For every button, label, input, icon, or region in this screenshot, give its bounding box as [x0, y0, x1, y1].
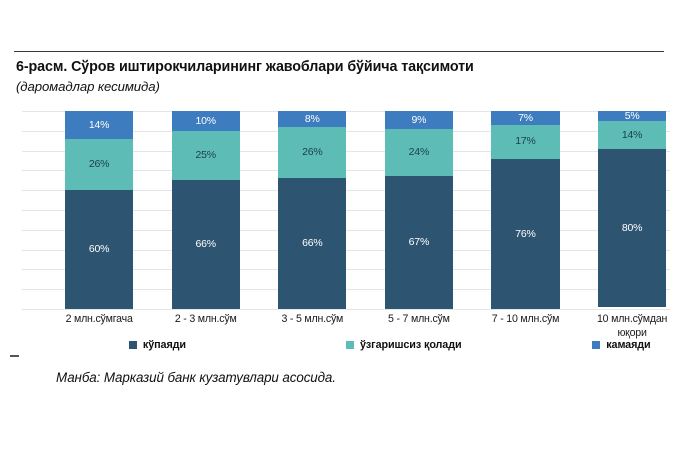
- bar-segment-decrease[interactable]: 10%: [172, 111, 240, 131]
- x-axis-label: 7 - 10 млн.сўм: [471, 313, 579, 327]
- bar-segment-value-label: 26%: [89, 159, 109, 170]
- bar-segment-increase[interactable]: 76%: [491, 159, 559, 309]
- stacked-bar[interactable]: 7%17%76%: [491, 111, 559, 309]
- legend-label: ўзгаришсиз қолади: [360, 339, 462, 351]
- x-axis-label-line: 7 - 10 млн.сўм: [471, 313, 579, 327]
- bar-segment-decrease[interactable]: 14%: [65, 111, 133, 139]
- bar-segment-value-label: 5%: [625, 111, 640, 122]
- legend-swatch-decrease: [592, 341, 600, 349]
- bar-segment-same[interactable]: 14%: [598, 121, 666, 149]
- bar-segment-value-label: 25%: [195, 150, 215, 161]
- bar-segment-value-label: 76%: [515, 229, 535, 240]
- legend-swatch-increase: [129, 341, 137, 349]
- bar-segment-value-label: 8%: [305, 114, 320, 125]
- bar-segment-increase[interactable]: 66%: [278, 178, 346, 309]
- bar-segment-value-label: 7%: [518, 113, 533, 124]
- bar-segment-value-label: 24%: [409, 147, 429, 158]
- bar-group[interactable]: 10%25%66%: [172, 111, 240, 309]
- legend-label: кўпаяди: [143, 339, 186, 351]
- bar-segment-value-label: 26%: [302, 147, 322, 158]
- stacked-bar[interactable]: 14%26%60%: [65, 111, 133, 309]
- bar-segment-decrease[interactable]: 7%: [491, 111, 559, 125]
- x-axis-label: 3 - 5 млн.сўм: [258, 313, 366, 327]
- x-axis-label: 5 - 7 млн.сўм: [365, 313, 473, 327]
- bar-segment-same[interactable]: 17%: [491, 125, 559, 159]
- bar-segment-value-label: 66%: [195, 239, 215, 250]
- bar-segment-increase[interactable]: 66%: [172, 180, 240, 309]
- left-tick-dash-icon: [10, 355, 19, 357]
- bar-group[interactable]: 7%17%76%: [491, 111, 559, 309]
- bar-segment-value-label: 67%: [409, 237, 429, 248]
- bar-segment-value-label: 10%: [195, 116, 215, 127]
- stacked-bar[interactable]: 5%14%80%: [598, 111, 666, 309]
- x-axis-label-line: юқори: [578, 327, 680, 341]
- bar-segment-increase[interactable]: 80%: [598, 149, 666, 307]
- stacked-bar[interactable]: 9%24%67%: [385, 111, 453, 309]
- bar-segment-increase[interactable]: 60%: [65, 190, 133, 309]
- bar-segment-same[interactable]: 26%: [65, 139, 133, 190]
- x-axis-label-line: 5 - 7 млн.сўм: [365, 313, 473, 327]
- x-axis-label-line: 2 млн.сўмгача: [45, 313, 153, 327]
- stacked-bar[interactable]: 8%26%66%: [278, 111, 346, 309]
- x-axis-label-line: 10 млн.сўмдан: [578, 313, 680, 327]
- legend-swatch-same: [346, 341, 354, 349]
- bar-group[interactable]: 9%24%67%: [385, 111, 453, 309]
- title-divider-rule: [14, 51, 664, 52]
- legend-label: камаяди: [606, 339, 650, 351]
- figure-heading: 6-расм. Сўров иштирокчиларининг жавоблар…: [16, 57, 664, 96]
- x-axis-label: 2 - 3 млн.сўм: [152, 313, 260, 327]
- chart-subtitle: (даромадлар кесимида): [16, 77, 664, 96]
- x-axis-label-line: 2 - 3 млн.сўм: [152, 313, 260, 327]
- chart-legend: кўпаядиўзгаришсиз қоладикамаяди: [22, 339, 670, 355]
- bar-segment-value-label: 60%: [89, 244, 109, 255]
- source-note: Манба: Марказий банк кузатувлари асосида…: [56, 370, 336, 385]
- legend-item-increase[interactable]: кўпаяди: [129, 339, 186, 351]
- page-title: 6-расм. Сўров иштирокчиларининг жавоблар…: [16, 57, 664, 77]
- bar-segment-same[interactable]: 25%: [172, 131, 240, 180]
- bar-group[interactable]: 5%14%80%: [598, 111, 666, 309]
- bar-segment-value-label: 80%: [622, 223, 642, 234]
- bar-segment-value-label: 66%: [302, 238, 322, 249]
- gridline: [22, 309, 670, 310]
- bar-segment-value-label: 9%: [411, 115, 426, 126]
- legend-item-decrease[interactable]: камаяди: [592, 339, 650, 351]
- bar-group[interactable]: 14%26%60%: [65, 111, 133, 309]
- bar-segment-increase[interactable]: 67%: [385, 176, 453, 309]
- x-axis-label: 10 млн.сўмданюқори: [578, 313, 680, 340]
- bar-segment-value-label: 14%: [89, 120, 109, 131]
- bar-segment-decrease[interactable]: 8%: [278, 111, 346, 127]
- x-axis-label: 2 млн.сўмгача: [45, 313, 153, 327]
- bar-segment-decrease[interactable]: 9%: [385, 111, 453, 129]
- bar-segment-same[interactable]: 26%: [278, 127, 346, 178]
- bar-segment-same[interactable]: 24%: [385, 129, 453, 177]
- stacked-bars-group: 14%26%60%10%25%66%8%26%66%9%24%67%7%17%7…: [22, 111, 670, 309]
- stacked-bar[interactable]: 10%25%66%: [172, 111, 240, 309]
- chart-plot-area: 14%26%60%10%25%66%8%26%66%9%24%67%7%17%7…: [22, 111, 670, 309]
- bar-segment-value-label: 14%: [622, 130, 642, 141]
- legend-item-same[interactable]: ўзгаришсиз қолади: [346, 339, 462, 351]
- bar-segment-value-label: 17%: [515, 136, 535, 147]
- bar-segment-decrease[interactable]: 5%: [598, 111, 666, 121]
- x-axis-label-line: 3 - 5 млн.сўм: [258, 313, 366, 327]
- bar-group[interactable]: 8%26%66%: [278, 111, 346, 309]
